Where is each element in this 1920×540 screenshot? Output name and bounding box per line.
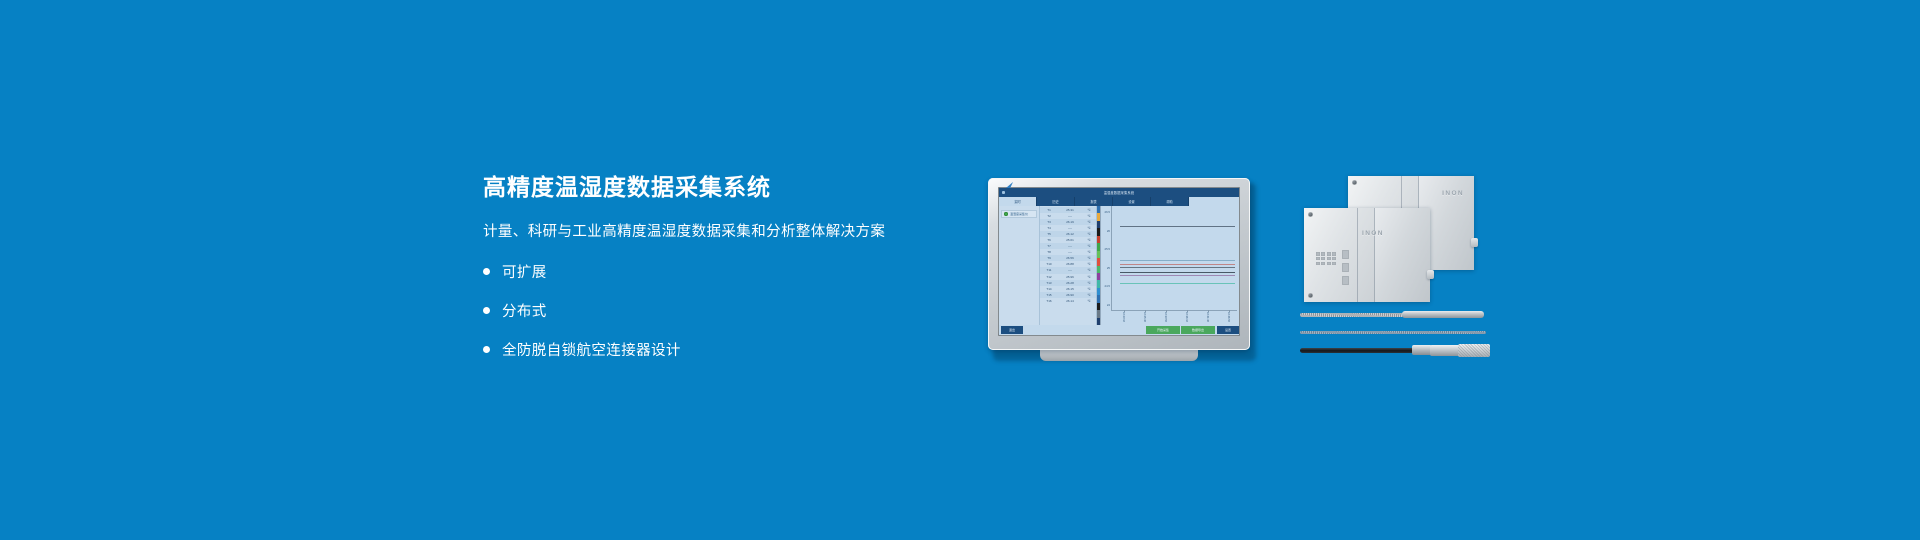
- channel-value: ----: [1057, 250, 1083, 254]
- legend-color-swatch: [1097, 288, 1100, 295]
- channel-value: ----: [1057, 214, 1083, 218]
- tab-bar-filler: [1189, 197, 1239, 206]
- app-footer-toolbar: 退出 开始采集 数据导出 设置: [999, 325, 1239, 335]
- aviation-connector: [1427, 270, 1434, 279]
- chart-x-tick-label: 10:20:10: [1122, 312, 1125, 322]
- trend-chart: 26.52625.52524.524 10:20:1010:25:3010:30…: [1101, 206, 1239, 325]
- corner-screw-icon: [1308, 293, 1313, 298]
- channel-value: 25.61: [1057, 238, 1083, 242]
- probe-sintered-filter: [1458, 344, 1490, 357]
- chart-series-line: [1120, 264, 1235, 265]
- list-item: 分布式: [483, 300, 953, 321]
- chart-x-tick-label: 10:41:30: [1206, 312, 1209, 322]
- daq-application: 温湿度数据采集系统 实时 历史 报表 设置 帮助 温湿度采集仪: [999, 188, 1239, 335]
- channel-name: T3: [1041, 220, 1057, 224]
- channel-value: 26.56: [1057, 256, 1083, 260]
- feature-label: 全防脱自锁航空连接器设计: [502, 339, 681, 360]
- product-monitor-image: 温湿度数据采集系统 实时 历史 报表 设置 帮助 温湿度采集仪: [988, 178, 1256, 361]
- chart-series-line: [1120, 260, 1235, 261]
- chart-y-tick-label: 25.5: [1105, 247, 1110, 251]
- legend-color-swatch: [1097, 258, 1100, 265]
- channel-name: T12: [1041, 275, 1057, 279]
- channel-unit: ℃: [1083, 214, 1095, 218]
- page-subtitle: 计量、科研与工业高精度温湿度数据采集和分析整体解决方案: [483, 220, 953, 241]
- sidebar-item-label: 温湿度采集仪: [1010, 212, 1028, 216]
- braided-steel-temperature-probe: [1300, 310, 1490, 320]
- channel-value: 26.28: [1057, 281, 1083, 285]
- export-data-button[interactable]: 数据导出: [1181, 326, 1215, 334]
- settings-button[interactable]: 设置: [1217, 326, 1239, 334]
- corner-screw-icon: [1308, 212, 1313, 217]
- legend-color-swatch: [1097, 251, 1100, 258]
- channel-unit: ℃: [1083, 226, 1095, 230]
- legend-color-swatch: [1097, 228, 1100, 235]
- channel-name: T1: [1041, 208, 1057, 212]
- feature-bullet-list: 可扩展 分布式 全防脱自锁航空连接器设计: [483, 261, 953, 360]
- channel-name: T2: [1041, 214, 1057, 218]
- probe-tip: [1402, 311, 1484, 318]
- channel-unit: ℃: [1083, 268, 1095, 272]
- legend-color-swatch: [1097, 266, 1100, 273]
- chart-series-line: [1120, 283, 1235, 284]
- enclosure-seam: [1357, 208, 1358, 302]
- aviation-connector: [1471, 238, 1478, 247]
- tab-settings[interactable]: 设置: [1113, 197, 1151, 206]
- legend-color-swatch: [1097, 236, 1100, 243]
- brand-logo: INON: [1442, 190, 1464, 197]
- page-title: 高精度温湿度数据采集系统: [483, 175, 953, 200]
- channel-unit: ℃: [1083, 250, 1095, 254]
- product-devices-image: INON INON: [1300, 176, 1490, 366]
- legend-color-swatch: [1097, 318, 1100, 325]
- app-tab-bar: 实时 历史 报表 设置 帮助: [999, 197, 1239, 206]
- probe-cable: [1300, 348, 1416, 353]
- probe-cable: [1300, 331, 1486, 334]
- channel-name: T8: [1041, 250, 1057, 254]
- bullet-dot-icon: [483, 307, 490, 314]
- chart-plot-area: [1112, 208, 1237, 311]
- bullet-dot-icon: [483, 268, 490, 275]
- legend-color-swatch: [1097, 280, 1100, 287]
- channel-name: T7: [1041, 244, 1057, 248]
- chart-x-axis: 10:20:1010:25:3010:30:5010:36:1010:41:30…: [1112, 311, 1237, 325]
- device-online-status-icon: [1004, 212, 1008, 216]
- brand-logo: INON: [1362, 230, 1384, 237]
- chart-y-axis: 26.52625.52524.524: [1101, 206, 1112, 311]
- channel-unit: ℃: [1083, 220, 1095, 224]
- channel-name: T13: [1041, 281, 1057, 285]
- channel-unit: ℃: [1083, 275, 1095, 279]
- legend-color-swatch: [1097, 303, 1100, 310]
- channel-unit: ℃: [1083, 299, 1095, 303]
- channel-unit: ℃: [1083, 238, 1095, 242]
- chart-x-tick-label: 10:25:30: [1143, 312, 1146, 322]
- channel-value: 26.12: [1057, 232, 1083, 236]
- start-capture-button[interactable]: 开始采集: [1146, 326, 1180, 334]
- chart-y-tick-label: 26: [1107, 229, 1110, 233]
- channel-value: 26.15: [1057, 287, 1083, 291]
- hero-text-block: 高精度温湿度数据采集系统 计量、科研与工业高精度温湿度数据采集和分析整体解决方案…: [483, 175, 953, 378]
- legend-color-swatch: [1097, 273, 1100, 280]
- channel-unit: ℃: [1083, 208, 1095, 212]
- channel-value: 26.14: [1057, 299, 1083, 303]
- terminal-block-grid: [1316, 252, 1336, 265]
- legend-color-swatch: [1097, 206, 1100, 213]
- corner-screw-icon: [1352, 180, 1357, 185]
- app-body: 温湿度采集仪 T125.31℃T2----℃T326.19℃T4----℃T52…: [999, 206, 1239, 325]
- app-window-title: 温湿度数据采集系统: [999, 190, 1239, 195]
- channel-name: T9: [1041, 256, 1057, 260]
- channel-readings-table: T125.31℃T2----℃T326.19℃T4----℃T526.12℃T6…: [1040, 206, 1097, 325]
- monitor-screen: 温湿度数据采集系统 实时 历史 报表 设置 帮助 温湿度采集仪: [998, 187, 1240, 336]
- chart-x-tick-label: 10:30:50: [1164, 312, 1167, 322]
- list-item: 可扩展: [483, 261, 953, 282]
- data-logger-front-unit: INON: [1304, 208, 1430, 302]
- probe-cable: [1300, 313, 1406, 317]
- channel-value: 25.96: [1057, 275, 1083, 279]
- chart-series-line: [1120, 226, 1235, 227]
- probe-barrel: [1430, 345, 1460, 357]
- channel-unit: ℃: [1083, 293, 1095, 297]
- bullet-dot-icon: [483, 346, 490, 353]
- list-item: 全防脱自锁航空连接器设计: [483, 339, 953, 360]
- tab-history[interactable]: 历史: [1037, 197, 1075, 206]
- legend-color-swatch: [1097, 243, 1100, 250]
- chart-y-tick-label: 26.5: [1105, 210, 1110, 214]
- channel-name: T15: [1041, 293, 1057, 297]
- legend-color-swatch: [1097, 295, 1100, 302]
- channel-unit: ℃: [1083, 256, 1095, 260]
- exit-button[interactable]: 退出: [1001, 326, 1023, 334]
- legend-color-swatch: [1097, 310, 1100, 317]
- channel-unit: ℃: [1083, 287, 1095, 291]
- chart-y-tick-label: 25: [1107, 266, 1110, 270]
- monitor-bezel: 温湿度数据采集系统 实时 历史 报表 设置 帮助 温湿度采集仪: [988, 178, 1250, 350]
- chart-y-tick-label: 24.5: [1105, 284, 1110, 288]
- channel-value: 26.88: [1057, 262, 1083, 266]
- feature-label: 可扩展: [502, 261, 547, 282]
- sidebar-item-device[interactable]: 温湿度采集仪: [1001, 210, 1037, 218]
- channel-name: T6: [1041, 238, 1057, 242]
- channel-unit: ℃: [1083, 232, 1095, 236]
- legend-color-swatch: [1097, 213, 1100, 220]
- channel-name: T10: [1041, 262, 1057, 266]
- channel-value: 26.19: [1057, 220, 1083, 224]
- channel-unit: ℃: [1083, 244, 1095, 248]
- channel-value: ----: [1057, 268, 1083, 272]
- channel-name: T11: [1041, 268, 1057, 272]
- channel-value: ----: [1057, 226, 1083, 230]
- device-tree-sidebar: 温湿度采集仪: [999, 206, 1040, 325]
- channel-value: 26.90: [1057, 293, 1083, 297]
- channel-name: T5: [1041, 232, 1057, 236]
- table-row[interactable]: T1626.14℃: [1040, 298, 1096, 304]
- probe-ferrule: [1412, 345, 1432, 355]
- channel-unit: ℃: [1083, 262, 1095, 266]
- connector-port-column: [1342, 250, 1349, 285]
- legend-color-swatch: [1097, 221, 1100, 228]
- channel-value: 25.31: [1057, 208, 1083, 212]
- tab-help[interactable]: 帮助: [1151, 197, 1189, 206]
- enclosure-lid: [1374, 208, 1430, 302]
- chart-series-line: [1120, 275, 1235, 276]
- channel-name: T16: [1041, 299, 1057, 303]
- chart-x-tick-label: 10:36:10: [1185, 312, 1188, 322]
- chart-x-tick-label: 10:46:50: [1227, 312, 1230, 322]
- channel-unit: ℃: [1083, 281, 1095, 285]
- chart-series-line: [1120, 272, 1235, 273]
- chart-y-tick-label: 24: [1107, 303, 1110, 307]
- tab-report[interactable]: 报表: [1075, 197, 1113, 206]
- channel-value: ----: [1057, 244, 1083, 248]
- app-title-bar: 温湿度数据采集系统: [999, 188, 1239, 197]
- channel-name: T4: [1041, 226, 1057, 230]
- blue-sheathed-sensor-cable: [1300, 328, 1490, 337]
- channel-name: T14: [1041, 287, 1057, 291]
- black-cable-humidity-probe: [1300, 344, 1490, 358]
- tab-realtime[interactable]: 实时: [999, 197, 1037, 206]
- chart-series-line: [1120, 267, 1235, 268]
- feature-label: 分布式: [502, 300, 547, 321]
